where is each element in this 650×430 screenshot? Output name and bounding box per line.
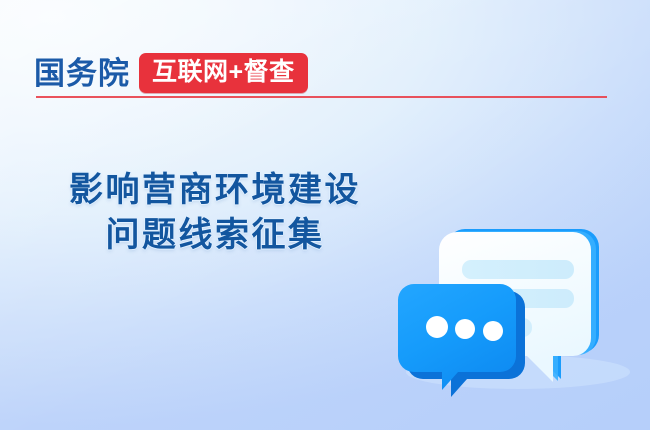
dot-2-icon (455, 319, 475, 339)
promo-banner: 国务院 互联网+督查 影响营商环境建设 问题线索征集 (0, 0, 650, 430)
page-title: 影响营商环境建设 问题线索征集 (0, 168, 430, 258)
program-badge: 互联网+督查 (139, 53, 308, 93)
organization-name: 国务院 (34, 58, 130, 89)
header-divider-rule (36, 96, 607, 98)
program-badge-label: 互联网+督查 (152, 60, 295, 85)
banner-header: 国务院 互联网+督查 (34, 53, 308, 93)
dot-1-icon (426, 316, 448, 338)
bubble-text-line-1 (462, 260, 574, 279)
page-title-line-2: 问题线索征集 (0, 213, 430, 258)
page-title-line-1: 影响营商环境建设 (0, 168, 430, 213)
dot-3-icon (483, 321, 503, 341)
